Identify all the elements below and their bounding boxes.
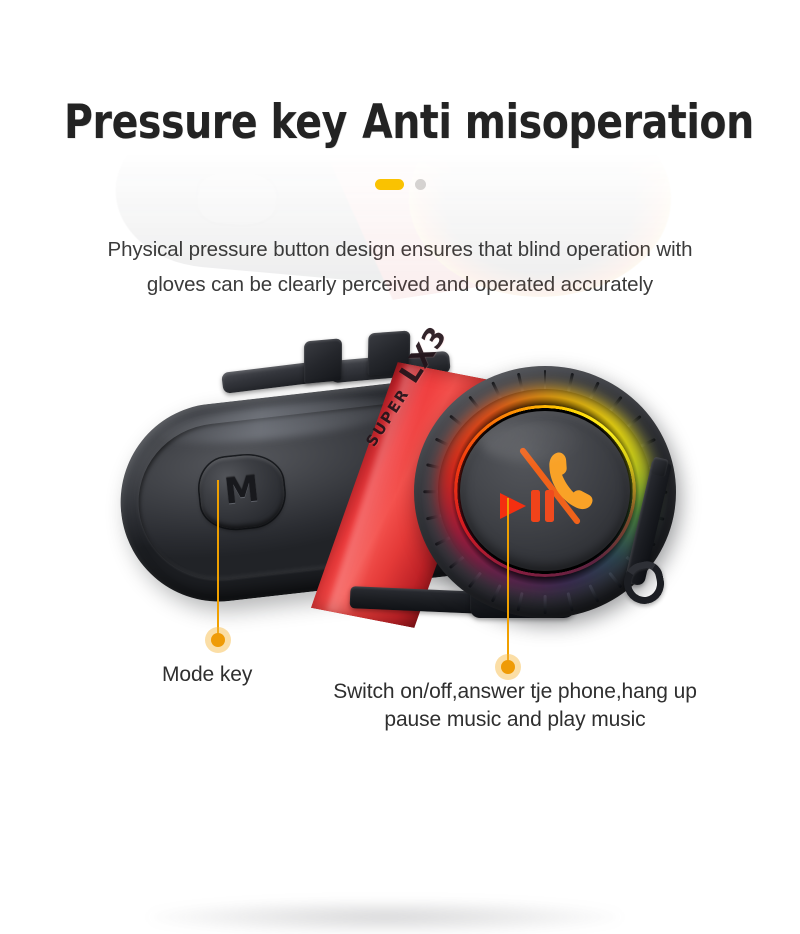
dial-tick — [517, 373, 524, 392]
dial-tick — [567, 373, 574, 392]
dial-tick — [567, 592, 574, 611]
ground-shadow — [150, 900, 620, 934]
page-subtitle-line-2: gloves can be clearly perceived and oper… — [0, 267, 800, 302]
mount-tab-left — [304, 338, 342, 383]
helmet-mount-bracket — [624, 458, 682, 606]
reflection-mode-key — [191, 167, 282, 230]
product-device-bluetooth-headset: M SUPER LX3 — [118, 330, 684, 620]
dial-tick — [608, 572, 622, 588]
leader-dot-multifunction-key[interactable] — [495, 654, 521, 680]
leader-line-multifunction-key — [507, 498, 509, 667]
leader-dot-core — [211, 633, 225, 647]
dial-tick — [544, 370, 547, 389]
dial-tick — [491, 382, 502, 400]
leader-dot-core — [501, 660, 515, 674]
dial-tick — [589, 584, 600, 602]
play-icon — [500, 493, 526, 519]
dial-tick — [491, 584, 502, 602]
pagination-dot-inactive[interactable] — [415, 179, 426, 190]
leader-dot-mode-key[interactable] — [205, 627, 231, 653]
callout-label-multifunction-key: Switch on/off,answer tje phone,hang up p… — [318, 678, 712, 735]
pagination-dots[interactable] — [0, 179, 800, 190]
dial-tick — [589, 382, 600, 400]
multifunction-button-face[interactable] — [460, 411, 630, 571]
dial-tick — [468, 572, 482, 588]
leader-line-mode-key — [217, 480, 219, 640]
pause-bar-right — [545, 490, 554, 522]
mode-key-button[interactable]: M — [196, 452, 287, 532]
dial-tick — [544, 595, 547, 614]
page-subtitle-line-1: Physical pressure button design ensures … — [108, 238, 693, 261]
page-title-part-2: Anti misoperation — [362, 95, 754, 150]
callout-multifunction-line-1: Switch on/off,answer tje phone,hang up — [333, 680, 697, 703]
pause-bar-left — [531, 490, 540, 522]
callout-multifunction-line-2: pause music and play music — [318, 706, 712, 734]
mode-key-label: M — [196, 452, 287, 532]
page-title: Pressure keyAnti misoperation — [64, 98, 736, 148]
page-title-part-1: Pressure key — [64, 95, 347, 150]
callout-label-mode-key: Mode key — [162, 661, 252, 689]
product-feature-slide: { "header": { "title_part1": "Pressure k… — [0, 0, 800, 800]
pagination-dot-active[interactable] — [375, 179, 404, 190]
face-icon-group — [460, 411, 630, 571]
page-subtitle: Physical pressure button design ensures … — [0, 232, 800, 303]
dial-tick — [517, 592, 524, 611]
callout-mode-key-line-1: Mode key — [162, 663, 252, 686]
product-stage: M SUPER LX3 — [0, 300, 800, 720]
